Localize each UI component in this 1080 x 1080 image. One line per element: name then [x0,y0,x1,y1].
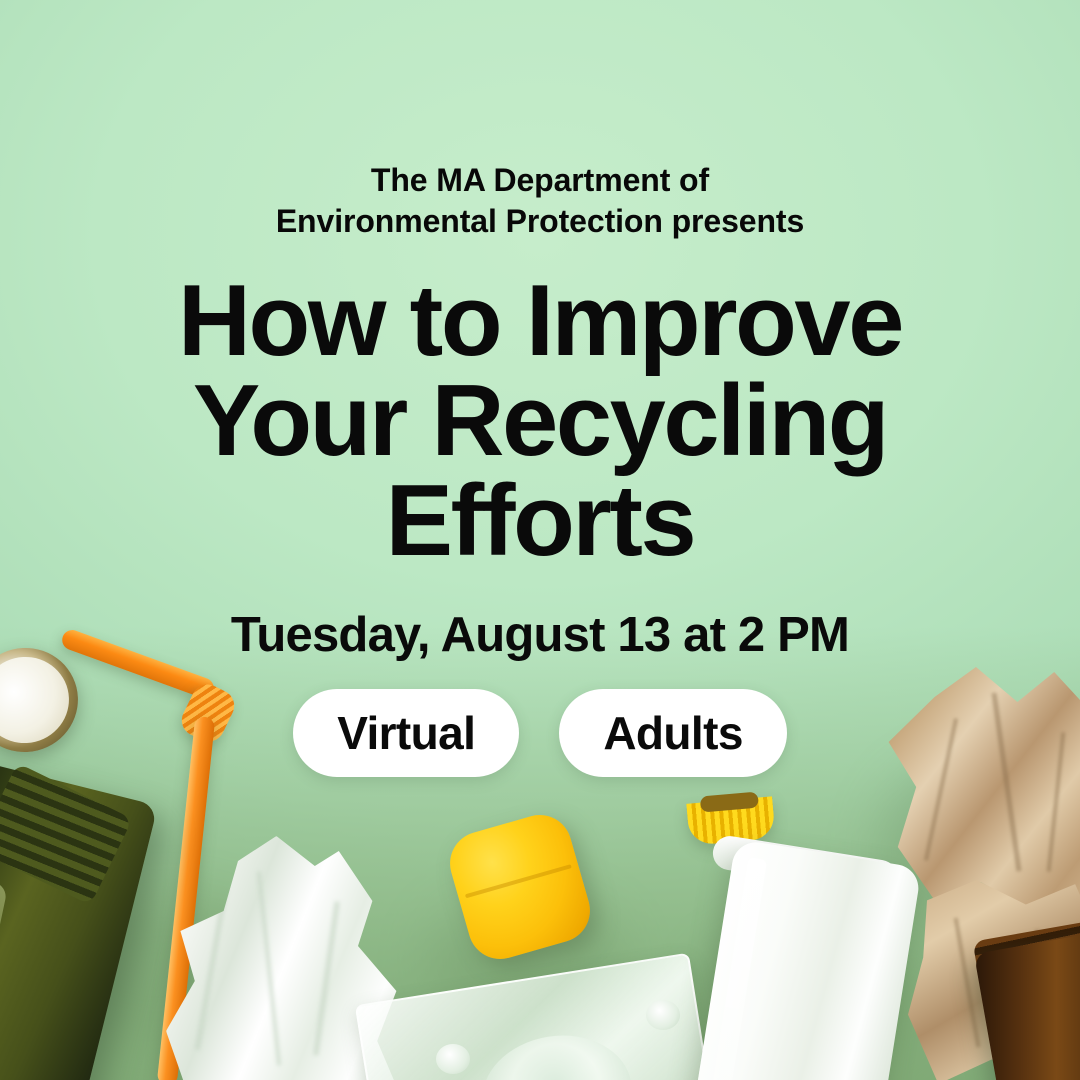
presenter-line-1: The MA Department of [276,160,804,201]
status-badge-virtual[interactable]: Virtual [293,689,519,777]
presenter-line-2: Environmental Protection presents [276,201,804,242]
badge-row: Virtual Adults [293,689,787,777]
event-datetime: Tuesday, August 13 at 2 PM [231,607,849,663]
event-poster: The MA Department of Environmental Prote… [0,0,1080,1080]
title-line-1: How to Improve [178,271,902,371]
page-title: How to Improve Your Recycling Efforts [178,271,902,571]
status-badge-adults[interactable]: Adults [559,689,787,777]
poster-content: The MA Department of Environmental Prote… [0,0,1080,1080]
title-line-2: Your Recycling [178,371,902,471]
title-line-3: Efforts [178,471,902,571]
presenter-eyebrow: The MA Department of Environmental Prote… [276,160,804,241]
